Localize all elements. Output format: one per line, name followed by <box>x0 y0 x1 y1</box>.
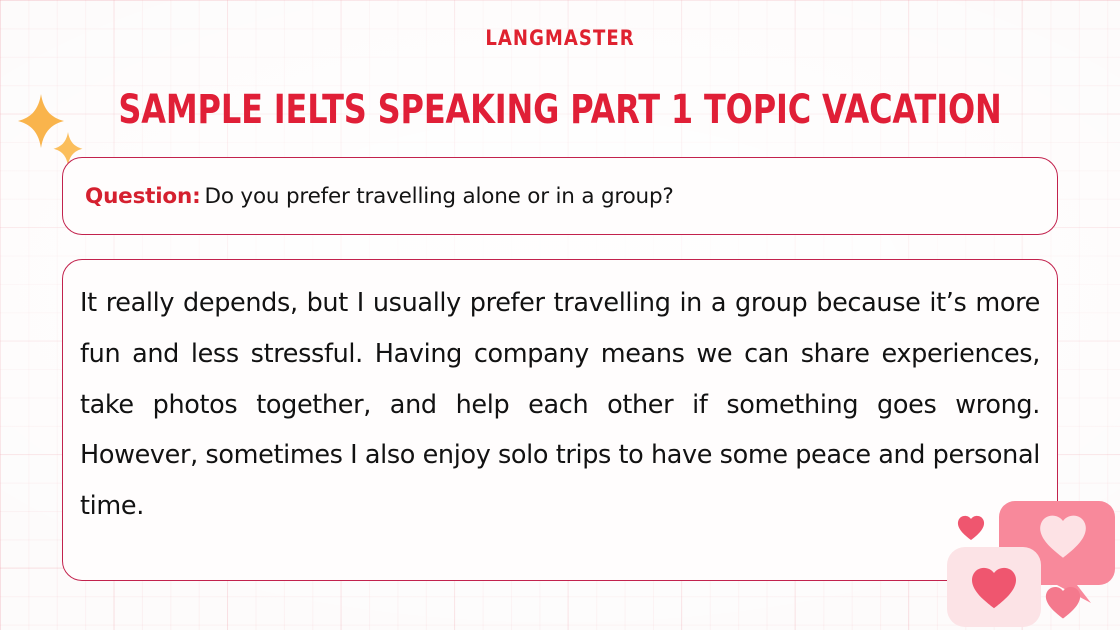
question-label: Question: <box>85 184 200 209</box>
langmaster-logo: LANGMASTER <box>78 28 1041 49</box>
question-text: Do you prefer travelling alone or in a g… <box>204 184 673 209</box>
answer-text: It really depends, but I usually prefer … <box>80 278 1040 532</box>
question-card: Question:Do you prefer travelling alone … <box>62 157 1058 235</box>
answer-card: It really depends, but I usually prefer … <box>62 259 1058 581</box>
slide-canvas: LANGMASTER SAMPLE IELTS SPEAKING PART 1 … <box>0 0 1120 630</box>
small-coral-heart-icon <box>1046 587 1080 619</box>
question-line: Question:Do you prefer travelling alone … <box>85 184 674 209</box>
page-title: SAMPLE IELTS SPEAKING PART 1 TOPIC VACAT… <box>112 88 1008 132</box>
